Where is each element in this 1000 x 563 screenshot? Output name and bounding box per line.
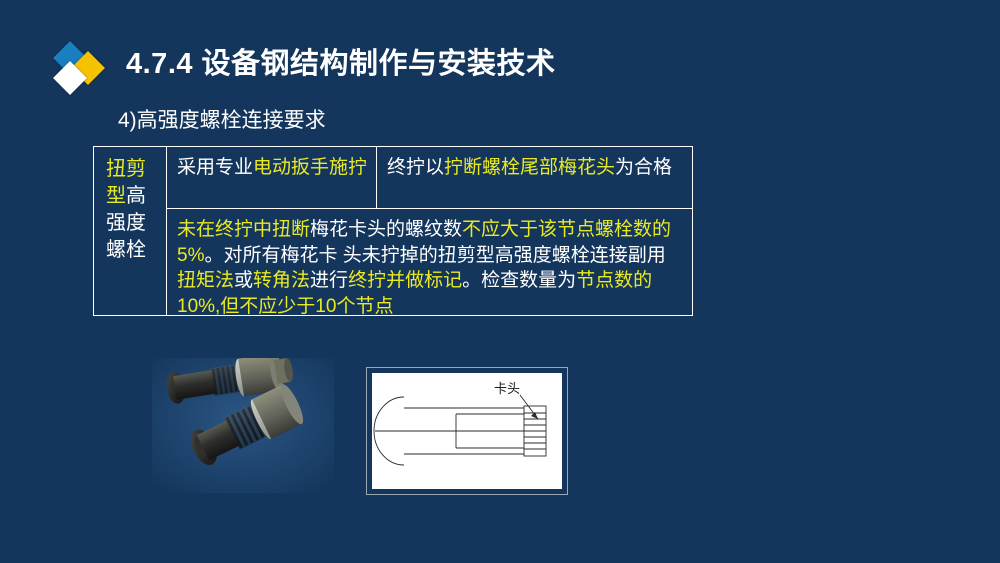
table-row: 采用专业电动扳手施拧 终拧以拧断螺栓尾部梅花头为合格 [167, 147, 692, 209]
note-segment: 。对所有梅花卡 头未拧掉的扭剪型高强度螺栓连接副用 [204, 245, 665, 266]
row-label-segment: 螺栓 [106, 239, 146, 261]
table-row-label: 扭剪型高强度螺栓 [94, 147, 167, 315]
torque-shear-bolts-photo [152, 358, 334, 493]
bolt-line-drawing: 卡头 [367, 368, 567, 494]
method-segment: 电动扳手施拧 [253, 157, 367, 178]
note-segment: 。检查数量为 [462, 270, 576, 291]
row-label-segment: 扭剪 [106, 158, 146, 180]
note-segment: 梅花卡头的螺纹数 [310, 219, 462, 240]
slide-header: 4.7.4 设备钢结构制作与安装技术 [48, 36, 948, 98]
slide-canvas: 4.7.4 设备钢结构制作与安装技术 4)高强度螺栓连接要求 扭剪型高强度螺栓 … [0, 0, 1000, 563]
table-cell-method: 采用专业电动扳手施拧 [167, 147, 377, 209]
criteria-segment: 终拧以 [387, 157, 444, 178]
note-segment: 转角法 [253, 270, 310, 291]
criteria-segment: 为合格 [615, 157, 672, 178]
row-label-segment: 高 [126, 185, 146, 207]
section-subheading: 4)高强度螺栓连接要求 [118, 104, 326, 134]
table-cell-note: 未在终拧中扭断梅花卡头的螺纹数不应大于该节点螺栓数的5%。对所有梅花卡 头未拧掉… [167, 209, 692, 315]
note-segment: 未在终拧中扭断 [177, 219, 310, 240]
requirements-table: 扭剪型高强度螺栓 采用专业电动扳手施拧 终拧以拧断螺栓尾部梅花头为合格 未在终拧… [93, 146, 693, 316]
row-label-segment: 型 [106, 185, 126, 207]
note-segment: 终拧并做标记 [348, 270, 462, 291]
three-diamonds-logo-icon [54, 42, 116, 94]
row-label-segment: 强度 [106, 212, 146, 234]
criteria-segment: 拧断螺栓尾部梅花头 [444, 157, 615, 178]
note-segment: 扭矩法 [177, 270, 234, 291]
note-segment: 进行 [310, 270, 348, 291]
table-cell-criteria: 终拧以拧断螺栓尾部梅花头为合格 [377, 147, 692, 209]
note-segment: 或 [234, 270, 253, 291]
method-segment: 采用专业 [177, 157, 253, 178]
page-title: 4.7.4 设备钢结构制作与安装技术 [126, 42, 556, 86]
diagram-label: 卡头 [494, 381, 520, 396]
